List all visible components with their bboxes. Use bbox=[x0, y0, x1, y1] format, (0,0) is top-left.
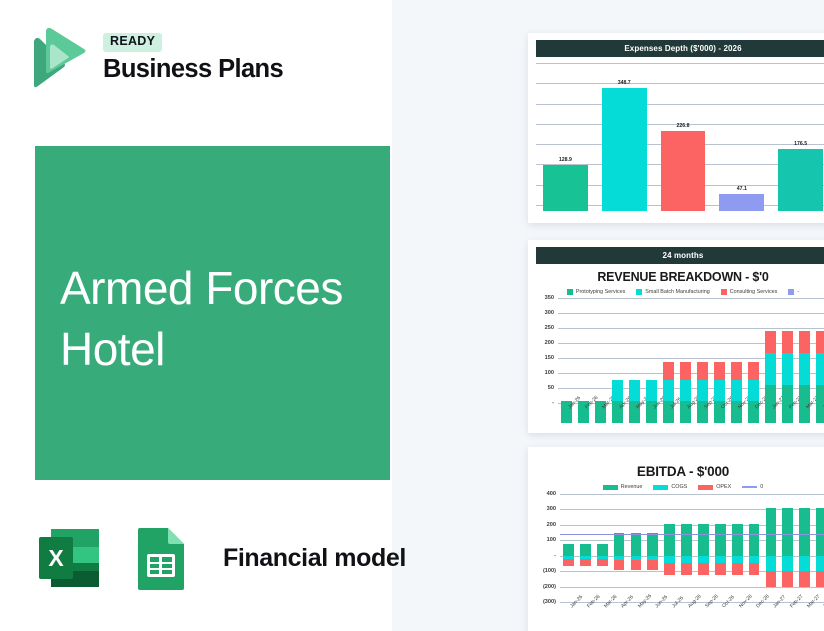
stack-segment bbox=[580, 544, 591, 556]
stack-segment bbox=[664, 524, 675, 556]
legend-swatch bbox=[742, 486, 757, 488]
stack-segment bbox=[697, 362, 708, 380]
gridline bbox=[536, 104, 824, 105]
stack-segment bbox=[715, 556, 726, 563]
stack-segment bbox=[732, 556, 743, 563]
legend-swatch bbox=[603, 485, 618, 490]
chart3-plot: 400300200100-(100)(200)(300)Jan-26Feb-26… bbox=[536, 494, 824, 624]
stack-segment bbox=[782, 331, 793, 353]
y-axis-tick: 300 bbox=[536, 506, 556, 512]
stack-segment bbox=[715, 563, 726, 575]
bar-1 bbox=[543, 165, 588, 211]
y-axis-tick: 200 bbox=[536, 522, 556, 528]
page-title-line1: Armed Forces bbox=[60, 258, 390, 319]
bar-5 bbox=[778, 149, 823, 211]
stack-segment bbox=[681, 563, 692, 575]
chart-card-expenses-depth: Expenses Depth ($'000) - 2026 128.9348.7… bbox=[528, 33, 824, 223]
stack-segment bbox=[816, 508, 824, 555]
bar-value-label: 176.5 bbox=[771, 141, 824, 147]
y-axis-tick: 50 bbox=[536, 385, 554, 391]
stack-segment bbox=[597, 559, 608, 566]
stack-segment bbox=[680, 362, 691, 380]
stack-segment bbox=[816, 556, 824, 571]
stack-segment bbox=[782, 571, 793, 586]
stack-segment bbox=[799, 556, 810, 571]
legend-swatch bbox=[567, 289, 573, 295]
chart3-legend: RevenueCOGSOPEX0 bbox=[536, 484, 824, 490]
y-axis-tick: 350 bbox=[536, 295, 554, 301]
stack-segment bbox=[732, 563, 743, 575]
legend-item: 0 bbox=[742, 484, 763, 490]
brand-lockup: READY Business Plans bbox=[30, 27, 283, 89]
stack-segment bbox=[749, 524, 760, 556]
legend-swatch bbox=[721, 289, 727, 295]
stack-segment bbox=[714, 380, 725, 401]
y-axis-tick: - bbox=[536, 400, 554, 406]
legend-item: Revenue bbox=[603, 484, 643, 490]
stack-segment bbox=[799, 571, 810, 586]
gridline bbox=[558, 313, 824, 314]
stack-segment bbox=[782, 556, 793, 571]
stack-segment bbox=[748, 362, 759, 380]
legend-label: Revenue bbox=[621, 484, 643, 490]
chart2-plot: 35030025020015010050-Jan-26Feb-26Mar-26A… bbox=[536, 298, 824, 423]
legend-label: Consulting Services bbox=[730, 289, 778, 295]
google-sheets-icon bbox=[124, 521, 198, 595]
stack-segment bbox=[631, 533, 642, 555]
stack-segment bbox=[698, 524, 709, 556]
stack-segment bbox=[597, 544, 608, 556]
stack-segment bbox=[563, 544, 574, 556]
stack-segment bbox=[681, 556, 692, 563]
legend-label: Prototyping Services bbox=[576, 289, 625, 295]
stack-segment bbox=[766, 571, 777, 586]
svg-text:X: X bbox=[48, 545, 64, 571]
play-triangle-logo bbox=[30, 27, 90, 89]
chart-card-revenue-breakdown: 24 months REVENUE BREAKDOWN - $'0 Protot… bbox=[528, 240, 824, 433]
legend-label: Small Batch Manufacturing bbox=[645, 289, 709, 295]
stack-segment bbox=[765, 331, 776, 353]
stack-segment bbox=[629, 380, 640, 401]
legend-item: Small Batch Manufacturing bbox=[636, 289, 709, 295]
y-axis-tick: 150 bbox=[536, 355, 554, 361]
chart-card-ebitda: EBITDA - $'000 RevenueCOGSOPEX0 40030020… bbox=[528, 447, 824, 631]
bar-value-label: 128.9 bbox=[536, 157, 595, 163]
stack-segment bbox=[563, 559, 574, 566]
y-axis-tick: 300 bbox=[536, 310, 554, 316]
stack-segment bbox=[799, 353, 810, 385]
page-title-line2: Hotel bbox=[60, 319, 390, 380]
bar-2 bbox=[602, 88, 647, 211]
legend-item: - bbox=[788, 289, 799, 295]
stack-segment bbox=[664, 563, 675, 575]
gridline bbox=[536, 83, 824, 84]
stack-segment bbox=[715, 524, 726, 556]
bar-value-label: 348.7 bbox=[595, 80, 654, 86]
stack-segment bbox=[698, 563, 709, 575]
stack-segment bbox=[816, 571, 824, 586]
gridline bbox=[536, 63, 824, 64]
legend-item: COGS bbox=[653, 484, 687, 490]
chart2-legend: Prototyping ServicesSmall Batch Manufact… bbox=[536, 289, 824, 295]
chart1-title: Expenses Depth ($'000) - 2026 bbox=[536, 40, 824, 57]
y-axis-tick: (100) bbox=[536, 568, 556, 574]
stack-segment bbox=[732, 524, 743, 556]
zero-reference-line bbox=[560, 534, 824, 535]
gridline bbox=[558, 298, 824, 299]
y-axis-tick: 400 bbox=[536, 491, 556, 497]
legend-label: 0 bbox=[760, 484, 763, 490]
stack-segment bbox=[816, 353, 824, 385]
bar-4 bbox=[719, 194, 764, 211]
stack-segment bbox=[614, 533, 625, 555]
stack-segment bbox=[663, 362, 674, 380]
stack-segment bbox=[816, 331, 824, 353]
legend-label: COGS bbox=[671, 484, 687, 490]
stack-segment bbox=[766, 508, 777, 555]
format-label: Financial model bbox=[223, 544, 406, 573]
legend-item: OPEX bbox=[698, 484, 731, 490]
gridline bbox=[560, 587, 824, 588]
y-axis-tick: 250 bbox=[536, 325, 554, 331]
stack-segment bbox=[799, 331, 810, 353]
chart3-title: EBITDA - $'000 bbox=[536, 464, 824, 479]
bar-3 bbox=[661, 131, 706, 211]
legend-swatch bbox=[788, 289, 794, 295]
stack-segment bbox=[631, 560, 642, 569]
legend-item: Consulting Services bbox=[721, 289, 778, 295]
stack-segment bbox=[646, 380, 657, 401]
stack-segment bbox=[731, 380, 742, 401]
y-axis-tick: (200) bbox=[536, 584, 556, 590]
stack-segment bbox=[766, 556, 777, 571]
stack-segment bbox=[765, 353, 776, 385]
legend-item: Prototyping Services bbox=[567, 289, 625, 295]
legend-label: OPEX bbox=[716, 484, 731, 490]
bar-value-label: 226.8 bbox=[654, 123, 713, 129]
stack-segment bbox=[680, 380, 691, 401]
stack-segment bbox=[799, 508, 810, 555]
slide-cover: READY Business Plans Armed Forces Hotel … bbox=[0, 0, 824, 631]
bar-value-label: 47.1 bbox=[712, 186, 771, 192]
legend-label: - bbox=[797, 289, 799, 295]
y-axis-tick: 200 bbox=[536, 340, 554, 346]
stack-segment bbox=[664, 556, 675, 563]
stack-segment bbox=[647, 560, 658, 569]
legend-swatch bbox=[653, 485, 668, 490]
legend-swatch bbox=[636, 289, 642, 295]
stack-segment bbox=[697, 380, 708, 401]
ready-badge: READY bbox=[103, 33, 162, 52]
stack-segment bbox=[731, 362, 742, 380]
y-axis-tick: 100 bbox=[536, 537, 556, 543]
stack-segment bbox=[698, 556, 709, 563]
page-title: Armed Forces Hotel bbox=[60, 258, 390, 380]
stack-segment bbox=[681, 524, 692, 556]
stack-segment bbox=[614, 560, 625, 569]
stack-segment bbox=[749, 556, 760, 563]
y-axis-tick: 100 bbox=[536, 370, 554, 376]
stack-segment bbox=[782, 353, 793, 385]
y-axis-tick: (300) bbox=[536, 599, 556, 605]
legend-swatch bbox=[698, 485, 713, 490]
stack-segment bbox=[714, 362, 725, 380]
chart1-plot: 128.9348.7226.847.1176.5 bbox=[536, 63, 824, 211]
gridline bbox=[560, 494, 824, 495]
stack-segment bbox=[782, 508, 793, 555]
y-axis-tick: - bbox=[536, 553, 556, 559]
microsoft-excel-icon: X bbox=[33, 521, 107, 595]
stack-segment bbox=[612, 380, 623, 401]
format-row: X Financial model bbox=[33, 521, 406, 595]
chart2-title: REVENUE BREAKDOWN - $'0 bbox=[536, 270, 824, 284]
stack-segment bbox=[580, 559, 591, 566]
stack-segment bbox=[663, 380, 674, 401]
stack-segment bbox=[749, 563, 760, 575]
chart2-header-bar: 24 months bbox=[536, 247, 824, 264]
stack-segment bbox=[748, 380, 759, 401]
stack-segment bbox=[647, 533, 658, 555]
brand-name: Business Plans bbox=[103, 55, 283, 83]
